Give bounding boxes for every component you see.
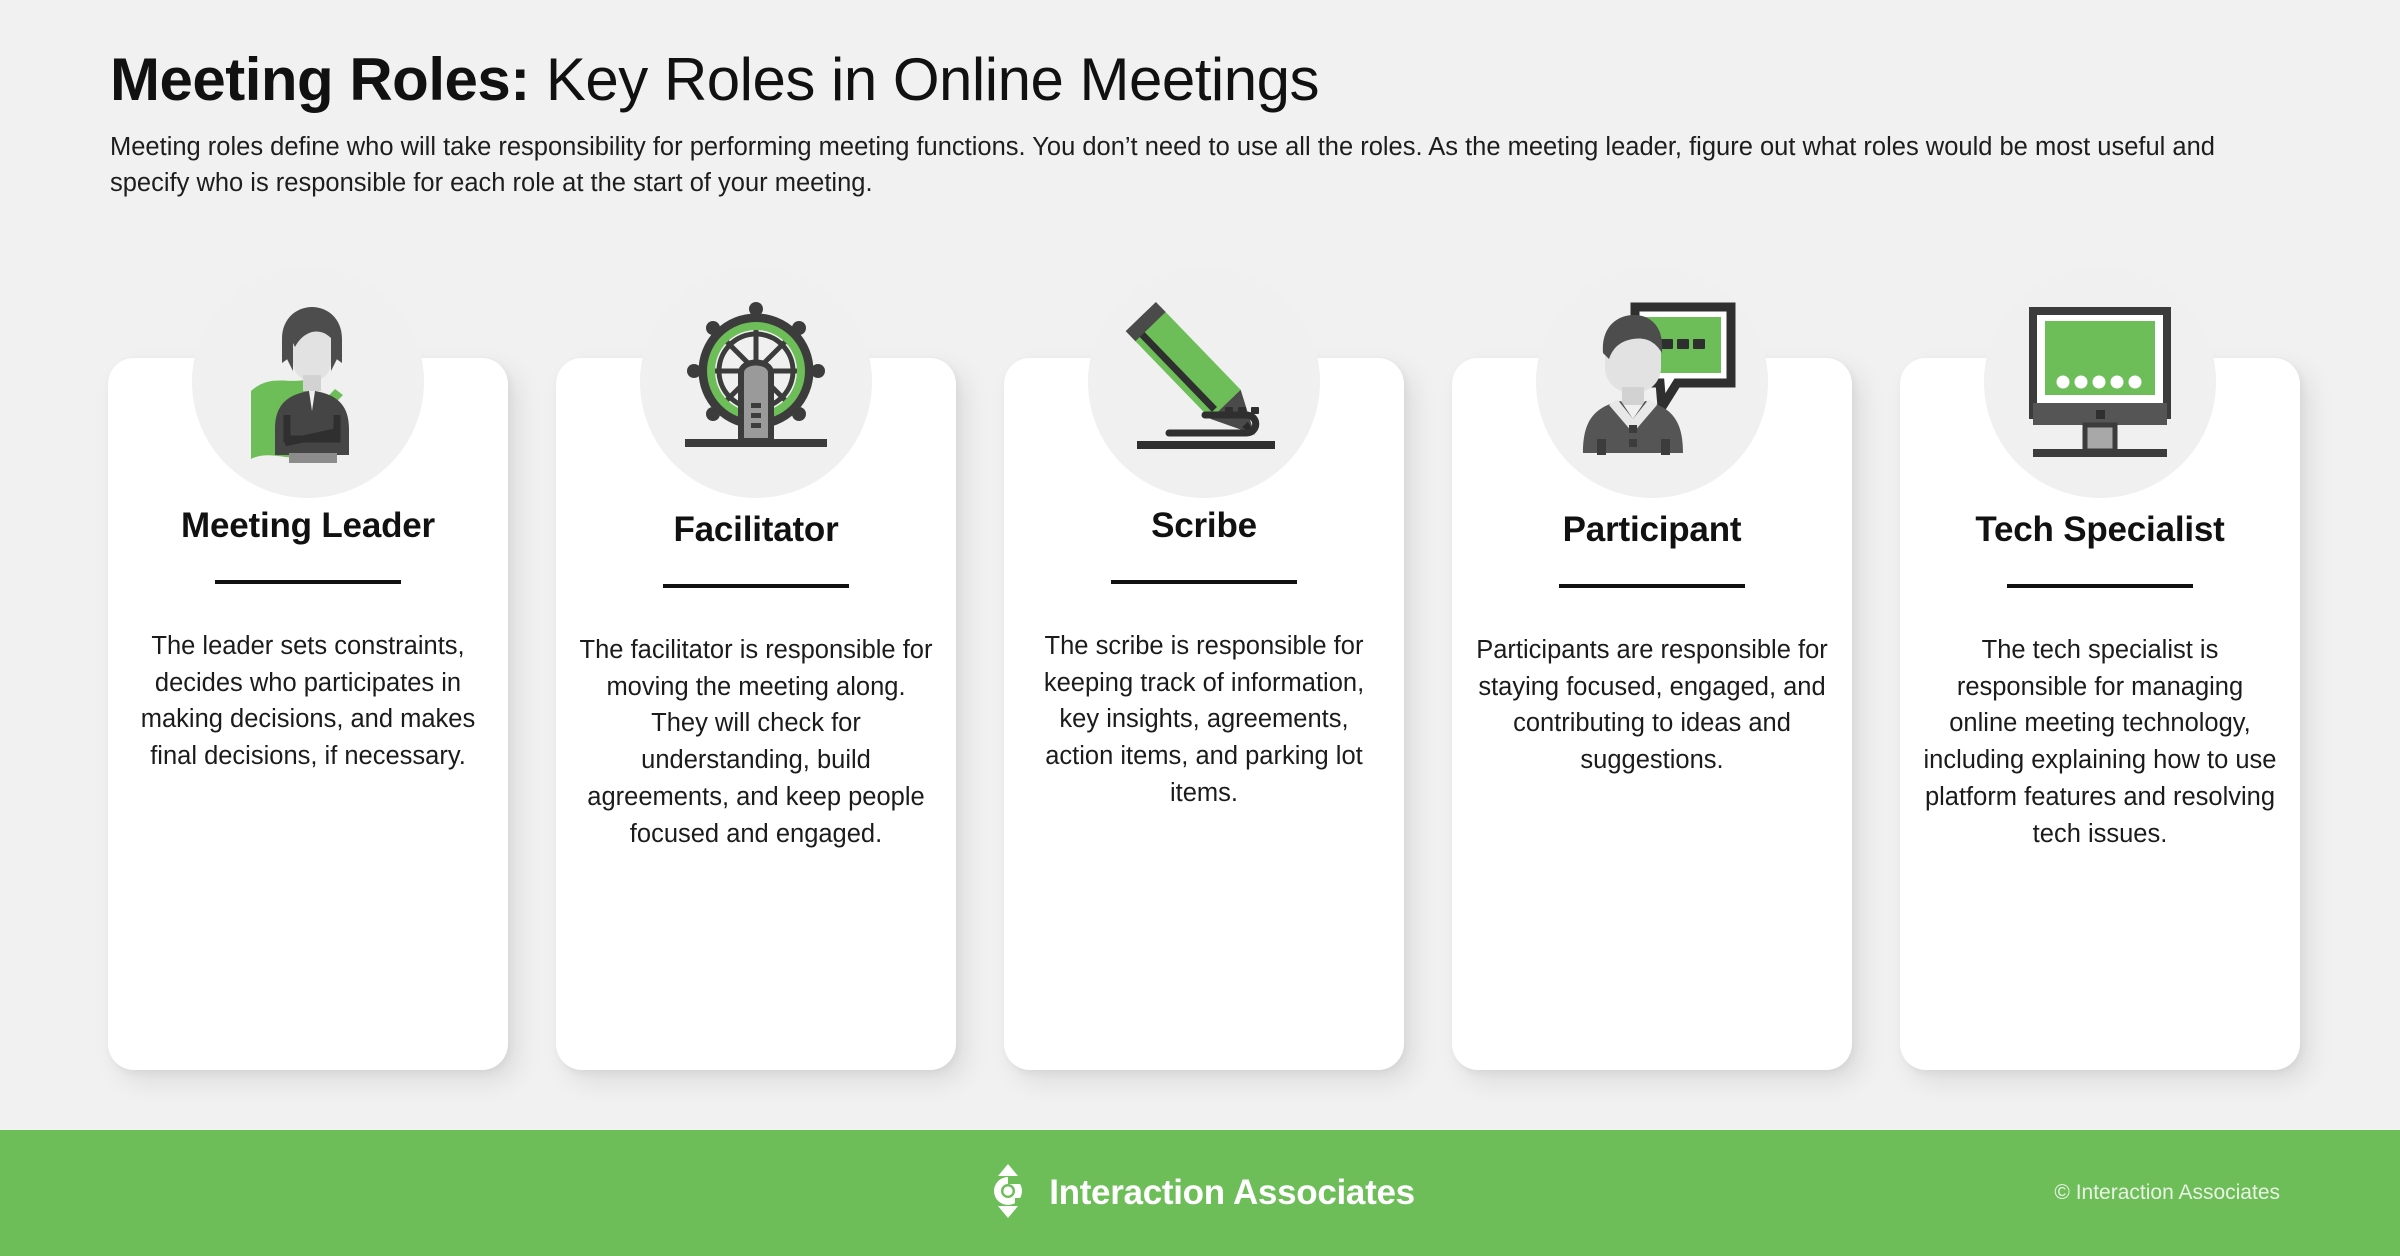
pencil-writing-icon bbox=[1088, 266, 1320, 498]
card-divider bbox=[1111, 580, 1297, 584]
person-with-flag-icon bbox=[192, 266, 424, 498]
card-title: Tech Specialist bbox=[1900, 510, 2300, 550]
role-cards-row: Meeting Leader The leader sets constrain… bbox=[108, 358, 2300, 1073]
role-card-tech-specialist[interactable]: Tech Specialist The tech specialist is r… bbox=[1900, 358, 2300, 1070]
card-title: Participant bbox=[1452, 510, 1852, 550]
page-subtitle: Meeting roles define who will take respo… bbox=[110, 129, 2240, 201]
role-card-facilitator[interactable]: Facilitator The facilitator is responsib… bbox=[556, 358, 956, 1070]
card-title: Scribe bbox=[1004, 506, 1404, 546]
page-title-rest: Key Roles in Online Meetings bbox=[530, 46, 1319, 113]
desktop-monitor-icon bbox=[1984, 266, 2216, 498]
ships-wheel-icon bbox=[640, 266, 872, 498]
interaction-associates-logo-icon bbox=[985, 1162, 1031, 1225]
card-body: The leader sets constraints, decides who… bbox=[130, 628, 486, 775]
footer: Interaction Associates © Interaction Ass… bbox=[0, 1130, 2400, 1256]
card-body: The facilitator is responsible for movin… bbox=[578, 632, 934, 852]
page-title: Meeting Roles: Key Roles in Online Meeti… bbox=[110, 46, 2300, 113]
footer-brand-name: Interaction Associates bbox=[1049, 1173, 1415, 1213]
infographic-page: Meeting Roles: Key Roles in Online Meeti… bbox=[0, 0, 2400, 1256]
card-title: Facilitator bbox=[556, 510, 956, 550]
person-speech-bubble-icon bbox=[1536, 266, 1768, 498]
role-card-scribe[interactable]: Scribe The scribe is responsible for kee… bbox=[1004, 358, 1404, 1070]
card-divider bbox=[1559, 584, 1745, 588]
card-body: The scribe is responsible for keeping tr… bbox=[1026, 628, 1382, 812]
role-card-participant[interactable]: Participant Participants are responsible… bbox=[1452, 358, 1852, 1070]
header: Meeting Roles: Key Roles in Online Meeti… bbox=[110, 46, 2300, 202]
page-title-lead: Meeting Roles: bbox=[110, 46, 530, 113]
role-card-meeting-leader[interactable]: Meeting Leader The leader sets constrain… bbox=[108, 358, 508, 1070]
card-divider bbox=[215, 580, 401, 584]
card-title: Meeting Leader bbox=[108, 506, 508, 546]
card-divider bbox=[2007, 584, 2193, 588]
card-body: Participants are responsible for staying… bbox=[1474, 632, 1830, 779]
footer-brand[interactable]: Interaction Associates bbox=[985, 1162, 1415, 1225]
card-divider bbox=[663, 584, 849, 588]
card-body: The tech specialist is responsible for m… bbox=[1922, 632, 2278, 852]
footer-copyright: © Interaction Associates bbox=[2054, 1181, 2280, 1205]
